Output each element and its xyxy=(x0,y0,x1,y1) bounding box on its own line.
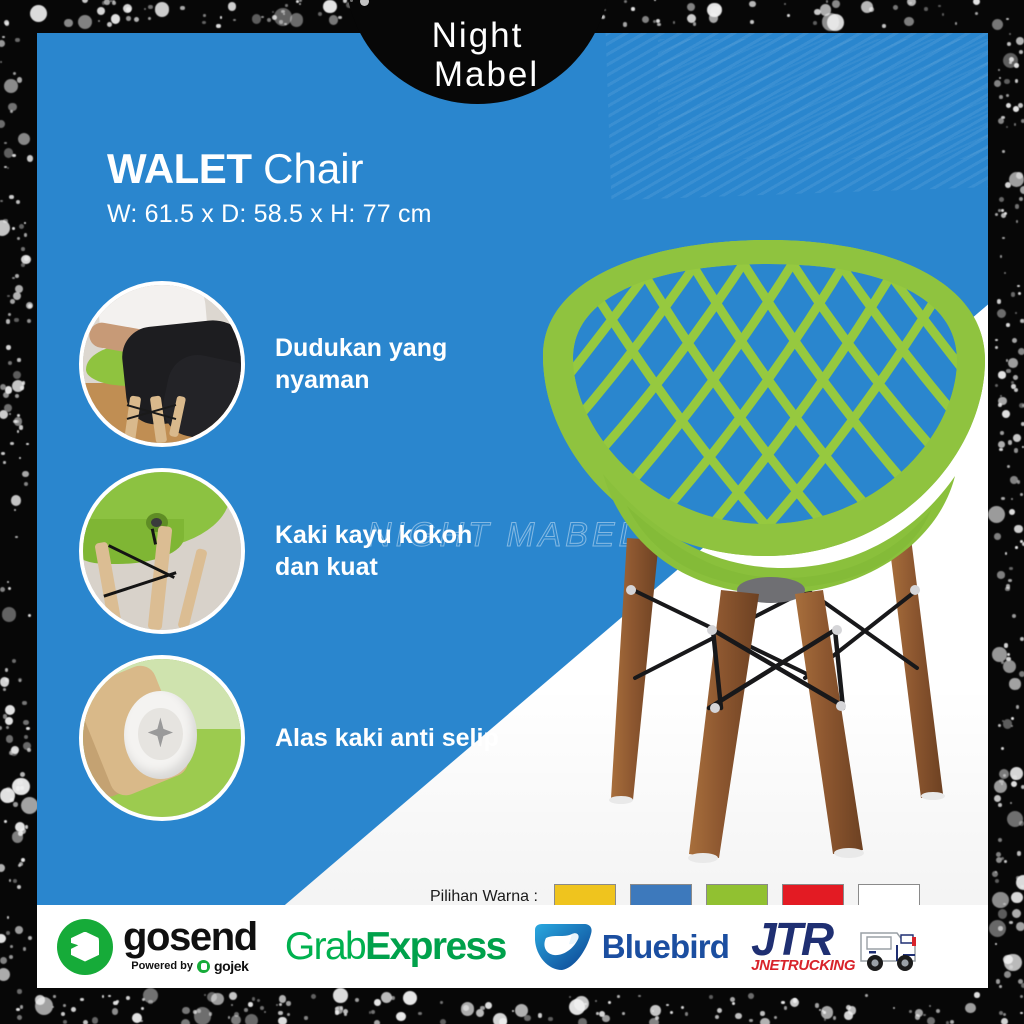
feature-list: Dudukan yang nyaman Kaki kayu kok xyxy=(79,276,505,837)
gosend-powered-by: Powered by gojek xyxy=(123,958,257,974)
product-name-bold: WALET xyxy=(107,145,251,192)
brand-name-line2: Mabel xyxy=(434,55,539,94)
page-title: WALET Chair xyxy=(107,148,432,190)
bluebird-logo: Bluebird xyxy=(532,922,729,972)
product-listing-image: NIGHT MABEL xyxy=(0,0,1024,1024)
diagonal-texture-decoration-2 xyxy=(658,39,988,159)
feature-photo-anti-slip-foot xyxy=(79,655,245,821)
jtr-wordmark: JTR xyxy=(751,920,855,960)
color-options-label: Pilihan Warna : xyxy=(430,888,538,906)
list-item: Kaki kayu kokoh dan kuat xyxy=(79,463,505,639)
jtr-logo: JTR JNETRUCKING xyxy=(751,920,921,972)
truck-icon xyxy=(857,921,921,973)
feature-photo-wooden-legs xyxy=(79,468,245,634)
gojek-icon xyxy=(197,960,210,973)
bluebird-bird-icon xyxy=(532,922,594,972)
product-heading: WALET Chair W: 61.5 x D: 58.5 x H: 77 cm xyxy=(107,148,432,229)
brand-name-line1: Night xyxy=(432,18,524,54)
product-name-light: Chair xyxy=(263,145,363,192)
express-wordmark: Express xyxy=(365,927,506,966)
content-panel: NIGHT MABEL xyxy=(37,33,988,988)
feature-label: Dudukan yang nyaman xyxy=(275,332,505,396)
gosend-wordmark: gosend xyxy=(123,919,257,956)
jne-text: JNE xyxy=(751,957,779,974)
bluebird-wordmark: Bluebird xyxy=(602,928,729,966)
grabexpress-logo: GrabExpress xyxy=(285,927,506,966)
feature-photo-comfort-seat xyxy=(79,281,245,447)
powered-by-text: Powered by xyxy=(131,960,193,972)
feature-label: Alas kaki anti selip xyxy=(275,722,499,754)
gosend-logo: gosend Powered by gojek xyxy=(57,919,257,975)
feature-label: Kaki kayu kokoh dan kuat xyxy=(275,519,505,583)
chair-product-illustration xyxy=(507,238,988,878)
trucking-text: TRUCKING xyxy=(779,957,855,974)
gosend-icon xyxy=(57,919,113,975)
jne-trucking-subtitle: JNETRUCKING xyxy=(751,960,855,973)
product-dimensions: W: 61.5 x D: 58.5 x H: 77 cm xyxy=(107,200,432,229)
list-item: Dudukan yang nyaman xyxy=(79,276,505,452)
shipping-partners-bar: gosend Powered by gojek GrabExpress xyxy=(37,905,988,988)
grab-wordmark: Grab xyxy=(285,927,365,966)
gojek-wordmark: gojek xyxy=(214,958,249,974)
list-item: Alas kaki anti selip xyxy=(79,650,505,826)
